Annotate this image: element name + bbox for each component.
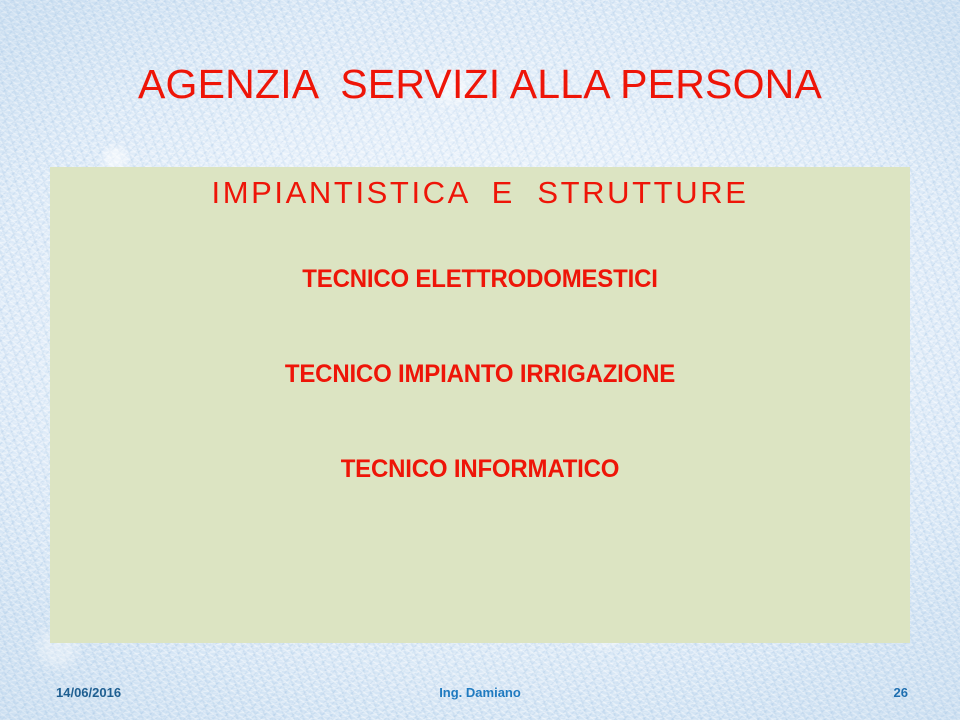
content-list-item: TECNICO ELETTRODOMESTICI [67,265,893,294]
content-list-item: TECNICO INFORMATICO [67,455,893,484]
presentation-slide: AGENZIA SERVIZI ALLA PERSONA IMPIANTISTI… [0,0,960,720]
slide-title: AGENZIA SERVIZI ALLA PERSONA [0,62,960,107]
content-heading: IMPIANTISTICA E STRUTTURE [50,175,910,211]
content-panel: IMPIANTISTICA E STRUTTURE TECNICO ELETTR… [50,167,910,643]
content-list-item: TECNICO IMPIANTO IRRIGAZIONE [67,360,893,389]
footer-author: Ing. Damiano [0,685,960,700]
footer-page-number: 26 [894,685,908,700]
